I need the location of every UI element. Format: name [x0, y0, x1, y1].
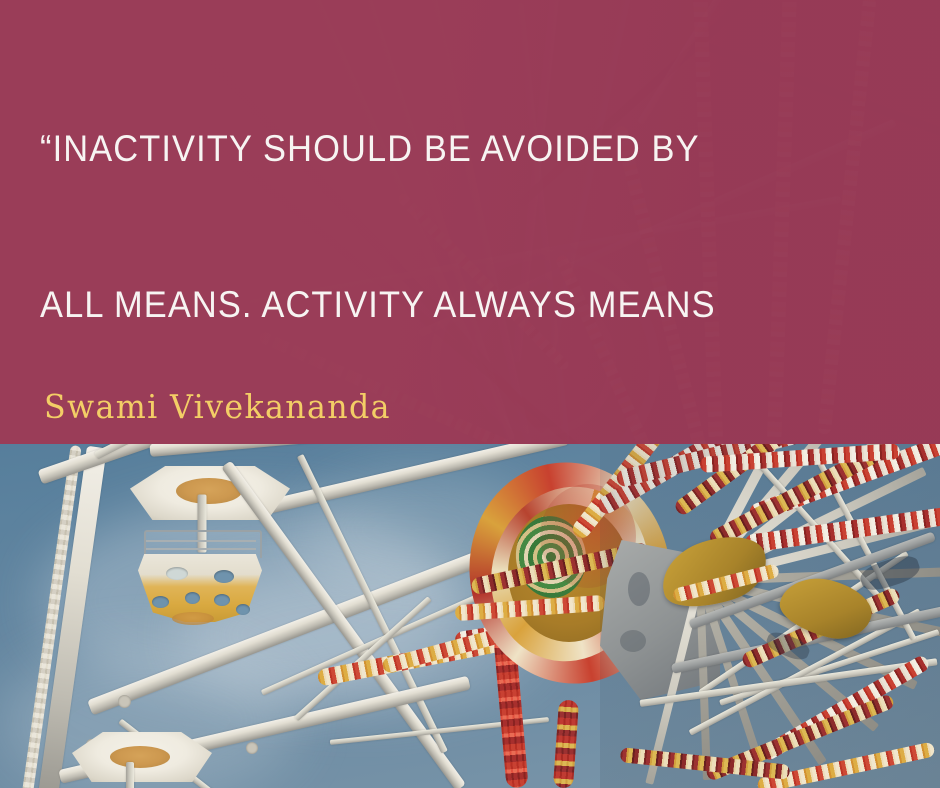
beam-joint	[118, 695, 131, 708]
cabin-window	[214, 594, 230, 606]
hub-port	[628, 572, 650, 606]
quote-line: “INACTIVITY SHOULD BE AVOIDED BY	[40, 123, 784, 175]
hub-port	[620, 630, 646, 652]
cabin-underside-disc	[172, 612, 214, 625]
cabin-window	[152, 596, 169, 608]
gondola-hanger-rod	[126, 762, 134, 788]
cabin-window	[166, 567, 188, 580]
railing-bar	[146, 548, 256, 550]
quote-line: ALL MEANS. ACTIVITY ALWAYS MEANS	[40, 279, 784, 331]
quote-attribution: Swami Vivekananda	[44, 387, 391, 427]
cabin-window	[214, 570, 234, 583]
railing-bar	[146, 540, 256, 542]
cabin-window	[236, 604, 250, 615]
cabin-window	[185, 592, 200, 604]
canopy-center-disc	[110, 746, 170, 768]
quote-line: RESISTANCE. RESIST ALL EVILS,	[40, 435, 784, 444]
quote-card: “INACTIVITY SHOULD BE AVOIDED BY ALL MEA…	[0, 0, 940, 788]
quote-panel: “INACTIVITY SHOULD BE AVOIDED BY ALL MEA…	[0, 0, 940, 444]
quote-text: “INACTIVITY SHOULD BE AVOIDED BY ALL MEA…	[40, 19, 784, 444]
gondola-railing	[144, 530, 262, 558]
beam-joint	[246, 742, 258, 754]
light-string-vertical	[553, 699, 579, 788]
